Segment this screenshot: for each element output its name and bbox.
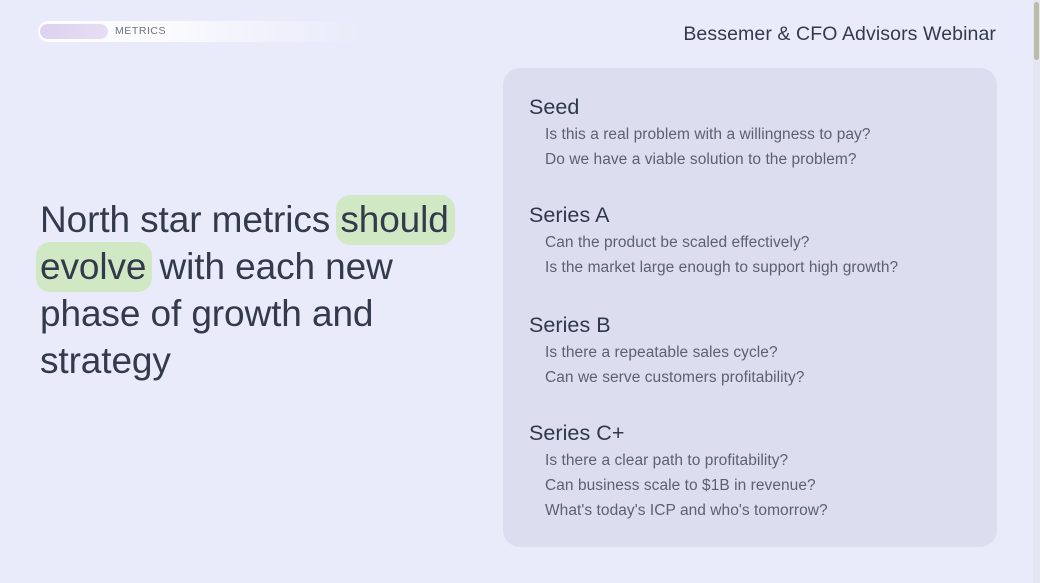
stage-question: Do we have a viable solution to the prob…	[545, 147, 985, 172]
stage-question: Can the product be scaled effectively?	[545, 230, 985, 255]
stage-group: Series C+Is there a clear path to profit…	[529, 418, 985, 523]
metrics-pill-icon	[40, 24, 108, 39]
stage-question: Can we serve customers profitability?	[545, 365, 985, 390]
page-scrollbar-thumb[interactable]	[1034, 2, 1039, 60]
webinar-title: Bessemer & CFO Advisors Webinar	[683, 21, 996, 47]
stage-title: Seed	[529, 92, 985, 122]
stage-question: What's today's ICP and who's tomorrow?	[545, 498, 985, 523]
stage-group: SeedIs this a real problem with a willin…	[529, 92, 985, 172]
top-bar: METRICS Bessemer & CFO Advisors Webinar	[0, 0, 1040, 62]
metrics-label: METRICS	[115, 24, 166, 39]
stage-question: Is there a repeatable sales cycle?	[545, 340, 985, 365]
stage-title: Series B	[529, 310, 985, 340]
funding-stage-panel: SeedIs this a real problem with a willin…	[503, 68, 997, 547]
stage-question: Is there a clear path to profitability?	[545, 448, 985, 473]
stage-group: Series ACan the product be scaled effect…	[529, 200, 985, 280]
page-scrollbar[interactable]	[1033, 0, 1040, 583]
stage-question: Is this a real problem with a willingnes…	[545, 122, 985, 147]
stage-title: Series A	[529, 200, 985, 230]
stage-question: Can business scale to $1B in revenue?	[545, 473, 985, 498]
stage-question: Is the market large enough to support hi…	[545, 255, 985, 280]
page-headline: North star metrics should evolve with ea…	[40, 196, 492, 384]
headline-text-before: North star metrics	[40, 199, 340, 240]
stage-title: Series C+	[529, 418, 985, 448]
stage-group: Series BIs there a repeatable sales cycl…	[529, 310, 985, 390]
